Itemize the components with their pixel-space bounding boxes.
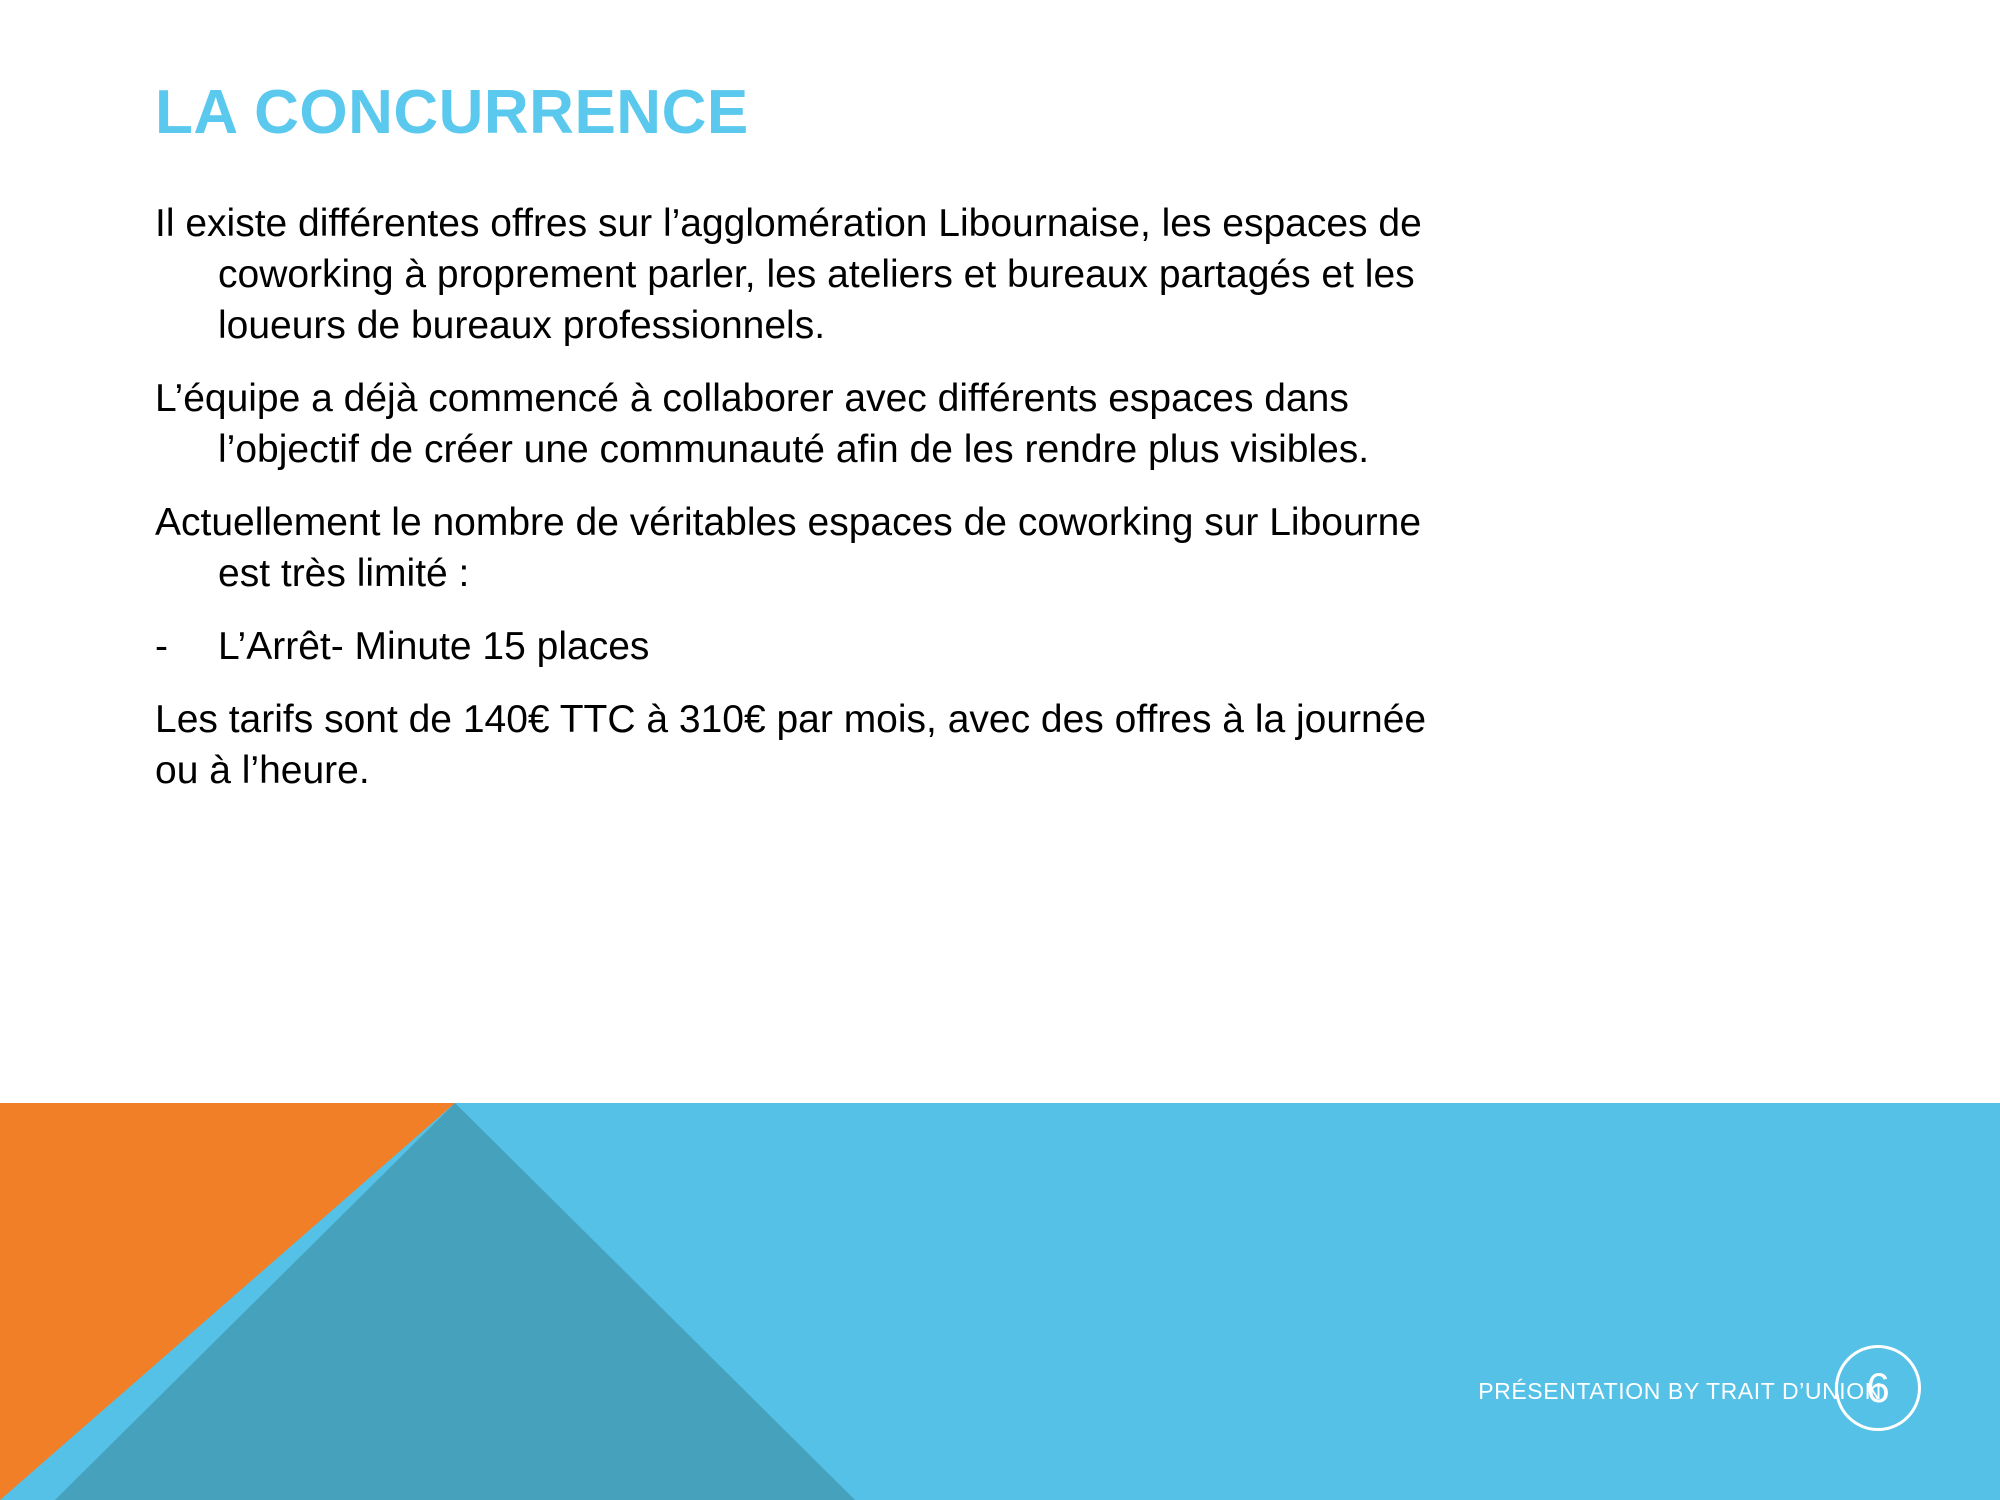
body-paragraph-4: Les tarifs sont de 140€ TTC à 310€ par m… — [155, 694, 1445, 796]
body-paragraph-1: Il existe différentes offres sur l’agglo… — [155, 198, 1445, 351]
body-paragraph-3: Actuellement le nombre de véritables esp… — [155, 497, 1445, 599]
footer-label: PRÉSENTATION BY TRAIT D’UNION — [1478, 1378, 1882, 1405]
dash-bullet-marker: - — [155, 621, 218, 672]
page-number-badge: 6 — [1835, 1345, 1921, 1431]
decorative-shapes — [0, 1103, 2000, 1500]
page-number: 6 — [1866, 1367, 1889, 1409]
list-item: -L’Arrêt- Minute 15 places — [155, 621, 1445, 672]
body-paragraph-2: L’équipe a déjà commencé à collaborer av… — [155, 373, 1445, 475]
page-title: LA CONCURRENCE — [155, 82, 749, 144]
slide-canvas: LA CONCURRENCE Il existe différentes off… — [0, 0, 2000, 1500]
decorative-band — [0, 1103, 2000, 1500]
dash-bullet-label: L’Arrêt- Minute 15 places — [218, 625, 649, 668]
slide-body: Il existe différentes offres sur l’agglo… — [155, 198, 1445, 818]
